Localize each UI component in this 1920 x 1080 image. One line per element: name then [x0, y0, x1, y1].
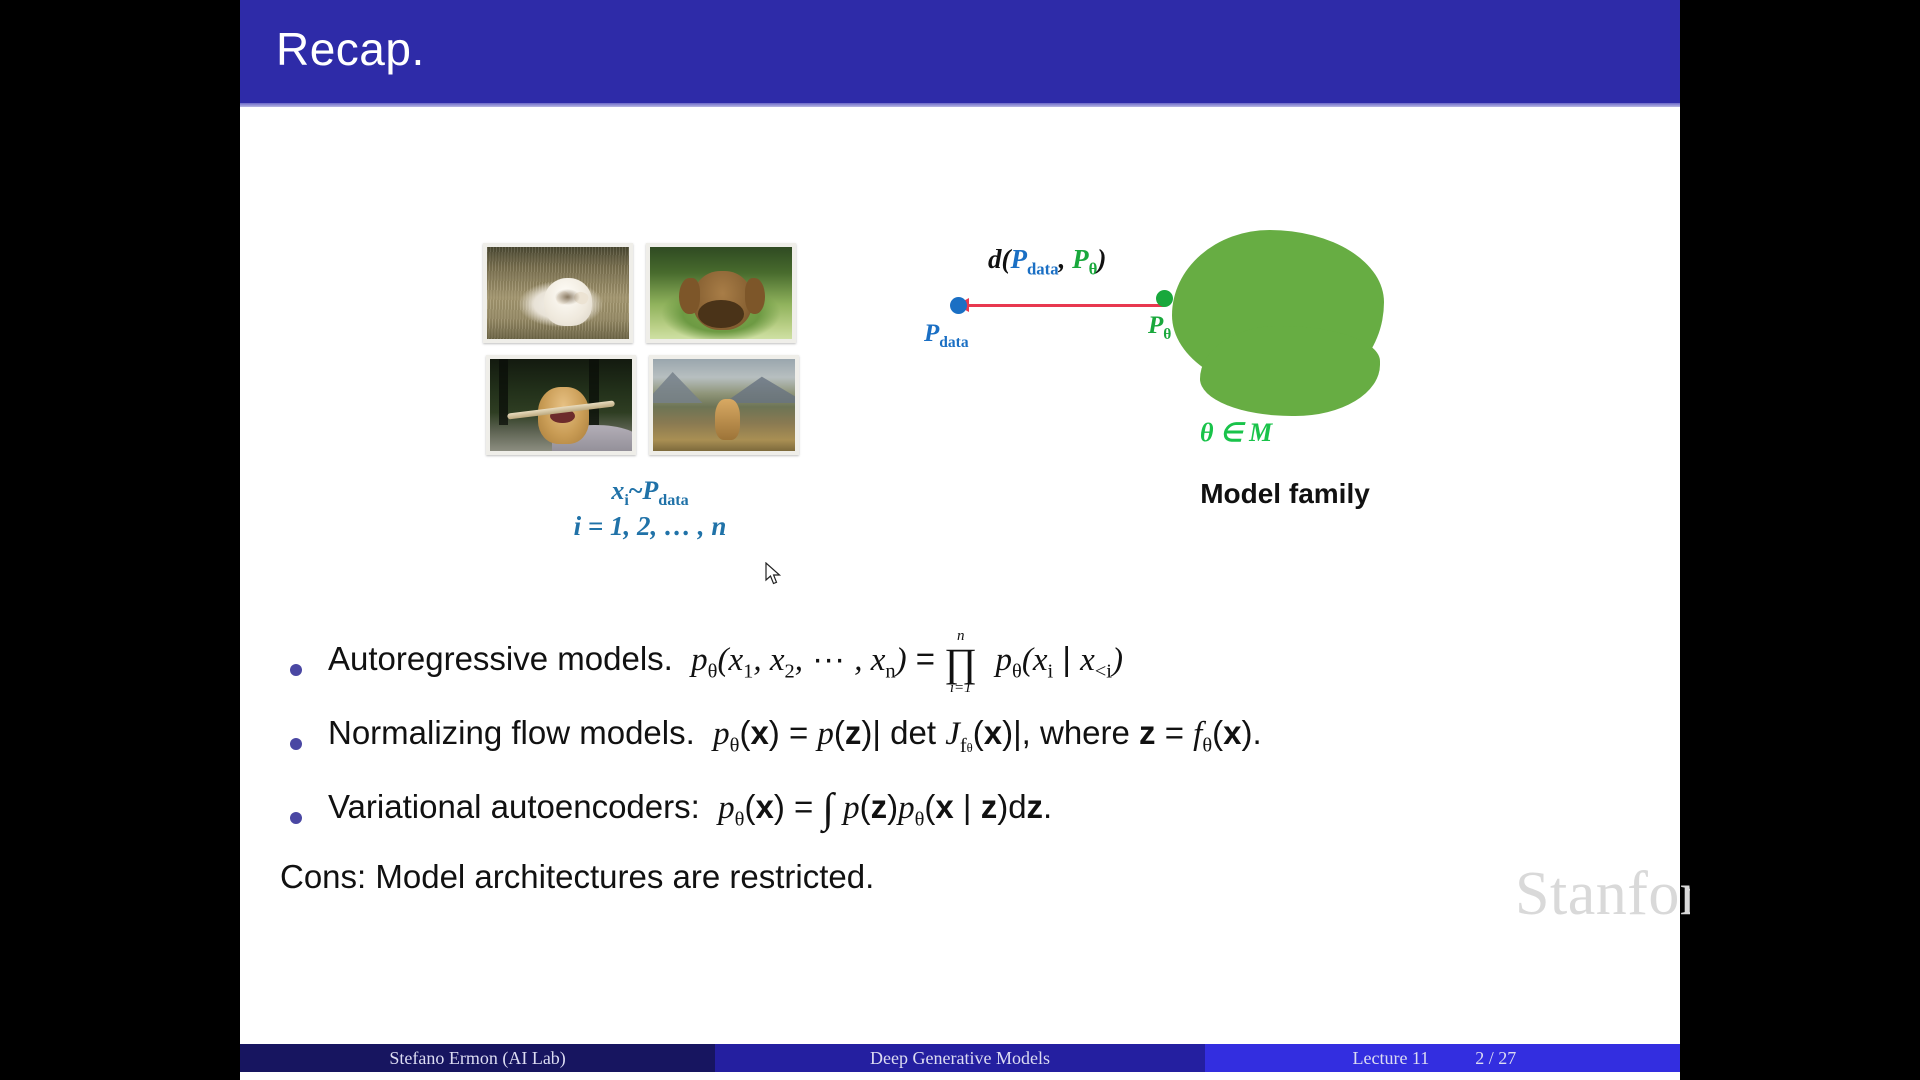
photo-image [653, 359, 795, 451]
bullet-dot-icon [290, 812, 302, 824]
bullet-dot-icon [290, 664, 302, 676]
dog-snout-shape [698, 300, 743, 328]
bullet-label: Variational autoencoders: [328, 788, 700, 825]
cons-line: Cons: Model architectures are restricted… [230, 858, 1680, 896]
page-title: Recap. [276, 22, 425, 76]
screen: Recap. [0, 0, 1920, 1080]
p-data-point [950, 297, 967, 314]
footer-author: Stefano Ermon (AI Lab) [240, 1044, 715, 1072]
photo-image [490, 359, 632, 451]
model-family-blob-lower [1200, 326, 1380, 416]
bullet-list: Autoregressive models. pθ(x1, x2, ··· , … [240, 640, 1680, 862]
photo-dog-carrying-stick-in-forest [486, 355, 636, 455]
list-item: Normalizing flow models. pθ(x) = p(z)| d… [240, 714, 1680, 772]
puppy-shape [544, 278, 592, 326]
sample-caption-line-1: xi~Pdata [470, 476, 830, 511]
stanford-watermark: Stanfor [1515, 859, 1690, 930]
sample-photo-grid [483, 243, 798, 458]
bullet-dot-icon [290, 738, 302, 750]
sample-caption: xi~Pdata i = 1, 2, … , n [470, 476, 830, 542]
photo-image [487, 247, 629, 339]
photo-dog-on-mountain-trail [649, 355, 799, 455]
photo-golden-dog-portrait-green-background [646, 243, 796, 343]
manifold-label: θ ∈ M [1200, 418, 1272, 448]
presentation-slide: Recap. [240, 0, 1680, 1080]
footer-pagination: Lecture 11 2 / 27 [1205, 1044, 1680, 1072]
mountain-shape [724, 374, 795, 403]
bullet-text: Autoregressive models. pθ(x1, x2, ··· , … [328, 640, 1123, 677]
distance-arrow-line [960, 304, 1164, 307]
footer-lecture: Lecture 11 [1352, 1048, 1429, 1069]
model-family-label: Model family [1150, 478, 1420, 510]
bullet-text: Variational autoencoders: pθ(x) = ∫ p(z)… [328, 788, 1052, 825]
slide-footer: Stefano Ermon (AI Lab) Deep Generative M… [240, 1044, 1680, 1072]
footer-course: Deep Generative Models [715, 1044, 1205, 1072]
bullet-text: Normalizing flow models. pθ(x) = p(z)| d… [328, 714, 1262, 751]
bullet-label: Normalizing flow models. [328, 714, 695, 751]
mouse-cursor [765, 562, 783, 586]
header-gradient-divider [240, 103, 1680, 107]
slide-header-bar: Recap. [240, 0, 1680, 107]
mountain-shape [653, 370, 733, 403]
list-item: Variational autoencoders: pθ(x) = ∫ p(z)… [240, 788, 1680, 846]
ear-right [572, 289, 590, 306]
photo-image [650, 247, 792, 339]
sample-caption-line-2: i = 1, 2, … , n [470, 511, 830, 542]
ear-left [554, 289, 573, 307]
cons-line-wrapper: Cons: Model architectures are restricted… [240, 858, 1680, 896]
distance-label: d(Pdata, Pθ) [988, 244, 1106, 279]
photo-white-puppy-running-in-grass [483, 243, 633, 343]
tree-trunk [589, 359, 599, 425]
dog-body-shape [715, 399, 739, 439]
list-item: Autoregressive models. pθ(x1, x2, ··· , … [240, 640, 1680, 698]
p-theta-point [1156, 290, 1173, 307]
p-theta-label: Pθ [1148, 312, 1171, 344]
bullet-label: Autoregressive models. [328, 640, 673, 677]
model-family-diagram: d(Pdata, Pθ) Pdata Pθ θ ∈ M Model family [900, 230, 1400, 550]
p-data-label: Pdata [924, 320, 969, 352]
footer-page-number: 2 / 27 [1475, 1048, 1516, 1069]
